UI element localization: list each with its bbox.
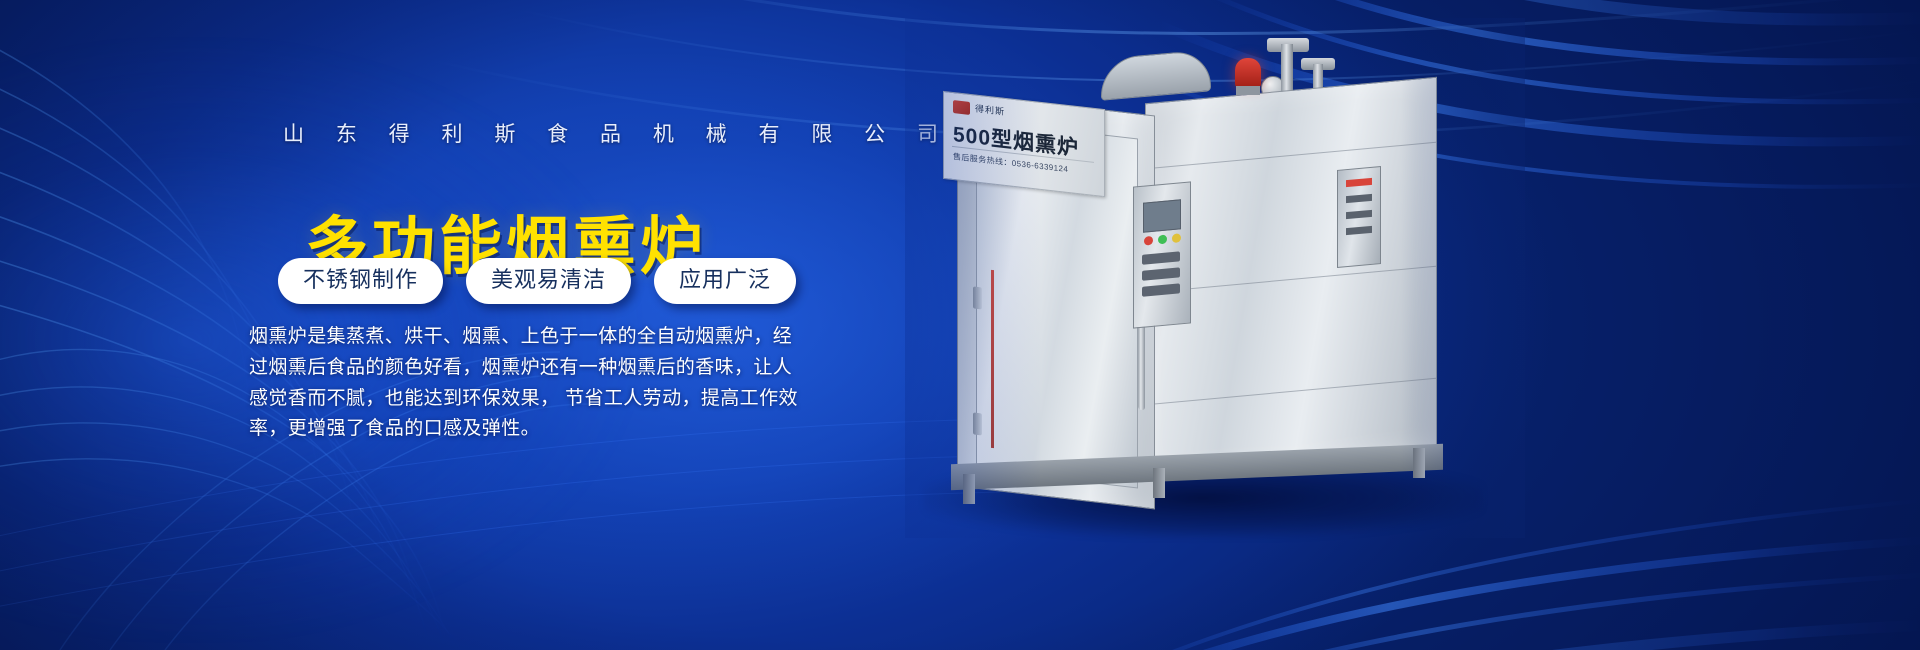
- feature-pill-list: 不锈钢制作 美观易清洁 应用广泛: [278, 258, 796, 304]
- feature-pill-wide-use[interactable]: 应用广泛: [654, 258, 796, 304]
- feature-pill-easy-clean[interactable]: 美观易清洁: [466, 258, 631, 304]
- machine-edge-haze: [905, 18, 1525, 538]
- company-name: 山 东 得 利 斯 食 品 机 械 有 限 公 司: [283, 118, 951, 148]
- banner-content: 山 东 得 利 斯 食 品 机 械 有 限 公 司 多功能烟熏炉 不锈钢制作 美…: [0, 0, 900, 650]
- product-photo-smokehouse-oven: 得利斯 500型烟熏炉 售后服务热线：0536-6339124: [905, 18, 1525, 538]
- feature-pill-stainless[interactable]: 不锈钢制作: [278, 258, 443, 304]
- description-text: 烟熏炉是集蒸煮、烘干、烟熏、上色于一体的全自动烟熏炉，经过烟熏后食品的颜色好看，…: [249, 322, 809, 445]
- promo-banner: 山 东 得 利 斯 食 品 机 械 有 限 公 司 多功能烟熏炉 不锈钢制作 美…: [0, 0, 1920, 650]
- product-description: 烟熏炉是集蒸煮、烘干、烟熏、上色于一体的全自动烟熏炉，经过烟熏后食品的颜色好看，…: [249, 322, 809, 445]
